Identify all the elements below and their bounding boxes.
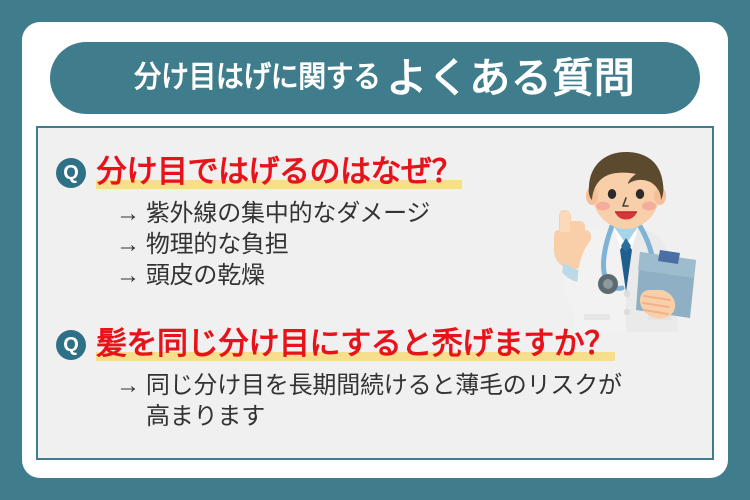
answer-text: 物理的な負担: [146, 229, 289, 260]
answer-text: 同じ分け目を長期間続けると薄毛のリスクが: [146, 370, 622, 401]
white-card: 分け目はげに関する よくある質問: [22, 22, 728, 478]
answer-item: → 頭皮の乾燥: [116, 260, 462, 291]
doctor-illustration-icon: [544, 140, 704, 336]
answer-list-2: → 同じ分け目を長期間続けると薄毛のリスクが 高まります: [116, 370, 622, 432]
title-banner: 分け目はげに関する よくある質問: [50, 42, 700, 114]
faq-item-1: Q 分け目ではげるのはなぜ？ → 紫外線の集中的なダメージ → 物理的な負担: [56, 154, 462, 291]
question-badge-icon: Q: [56, 330, 86, 360]
question-badge-icon: Q: [56, 158, 86, 188]
answer-continuation: 高まります: [146, 401, 622, 432]
answer-item: → 紫外線の集中的なダメージ: [116, 198, 462, 229]
arrow-icon: →: [116, 260, 140, 291]
answer-text: 頭皮の乾燥: [146, 260, 265, 291]
question-header-2: Q 髪を同じ分け目にすると禿げますか？: [56, 326, 622, 362]
faq-item-2: Q 髪を同じ分け目にすると禿げますか？ → 同じ分け目を長期間続けると薄毛のリス…: [56, 326, 622, 432]
title-prefix: 分け目はげに関する: [133, 63, 380, 93]
faq-panel: Q 分け目ではげるのはなぜ？ → 紫外線の集中的なダメージ → 物理的な負担: [36, 126, 714, 460]
faq-poster: 分け目はげに関する よくある質問: [0, 0, 750, 500]
answer-list-1: → 紫外線の集中的なダメージ → 物理的な負担 → 頭皮の乾燥: [116, 198, 462, 292]
arrow-icon: →: [116, 370, 140, 401]
question-text-wrap-2: 髪を同じ分け目にすると禿げますか？: [96, 326, 615, 362]
arrow-icon: →: [116, 198, 140, 229]
answer-text: 紫外線の集中的なダメージ: [146, 198, 430, 229]
question-text-2: 髪を同じ分け目にすると禿げますか？: [96, 326, 615, 362]
answer-item: → 物理的な負担: [116, 229, 462, 260]
question-header-1: Q 分け目ではげるのはなぜ？: [56, 154, 462, 190]
question-text-wrap-1: 分け目ではげるのはなぜ？: [96, 154, 462, 190]
arrow-icon: →: [116, 229, 140, 260]
title-emphasis: よくある質問: [386, 58, 635, 99]
question-text-1: 分け目ではげるのはなぜ？: [96, 154, 462, 190]
answer-item: → 同じ分け目を長期間続けると薄毛のリスクが: [116, 370, 622, 401]
